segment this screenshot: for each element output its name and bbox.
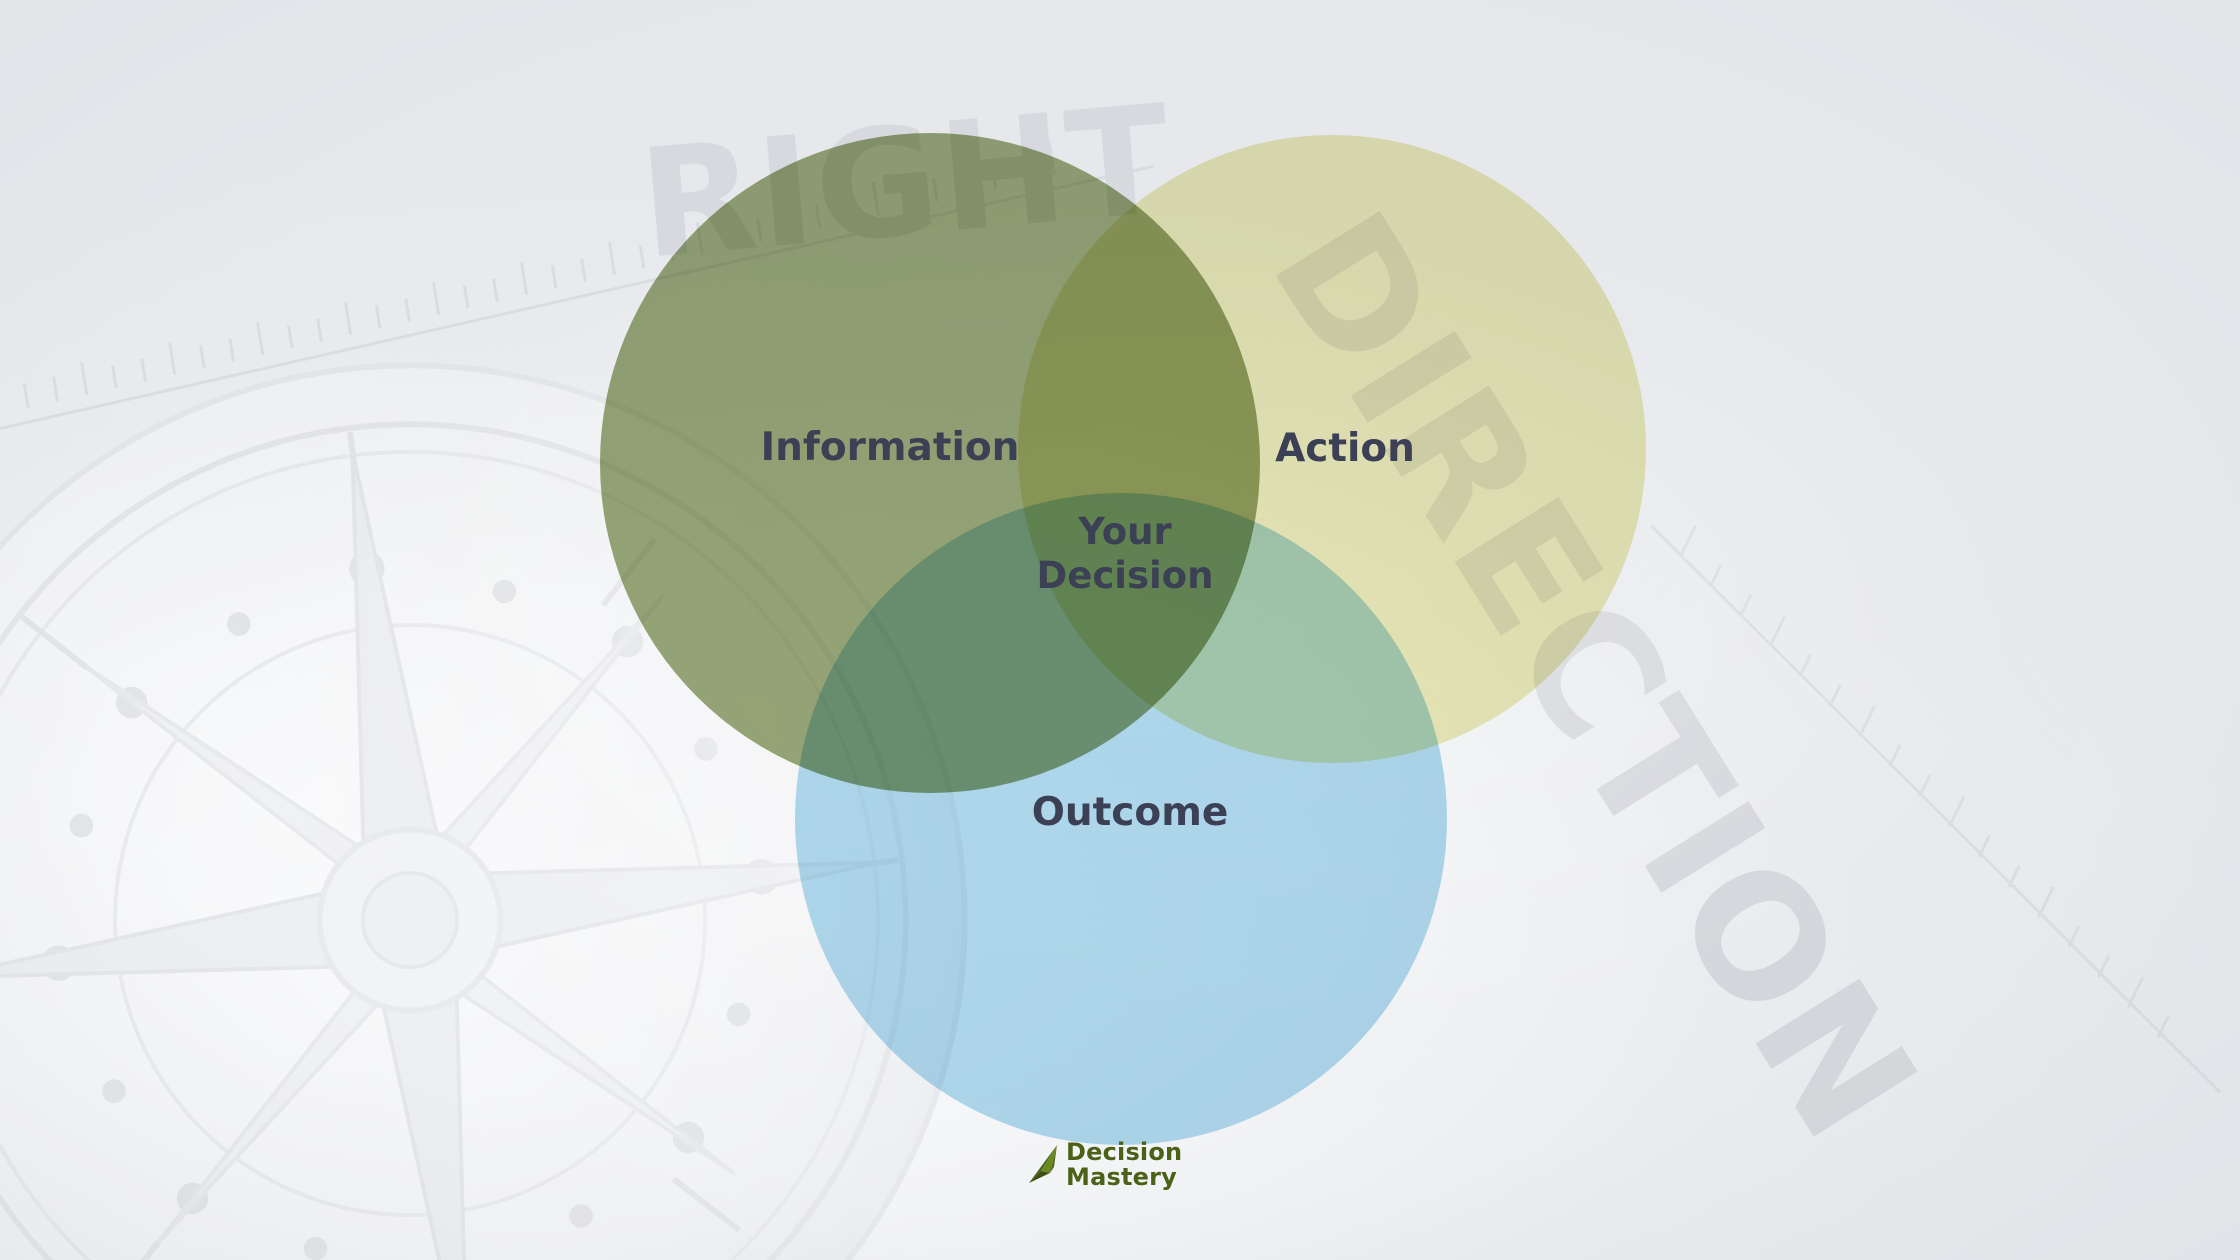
brand-logo-text: Decision Mastery [1066,1140,1182,1191]
venn-label-information: Information [700,425,1080,471]
compass-needle-icon [1026,1143,1060,1187]
slide-canvas: RIGHT DIRECTION Information Action Your … [0,0,2240,1260]
venn-label-your-decision: Your Decision [1000,510,1250,597]
brand-logo[interactable]: Decision Mastery [1026,1140,1182,1191]
venn-label-outcome: Outcome [990,790,1270,836]
venn-label-action: Action [1195,426,1495,472]
venn-diagram: Information Action Your Decision Outcome [0,0,2240,1260]
